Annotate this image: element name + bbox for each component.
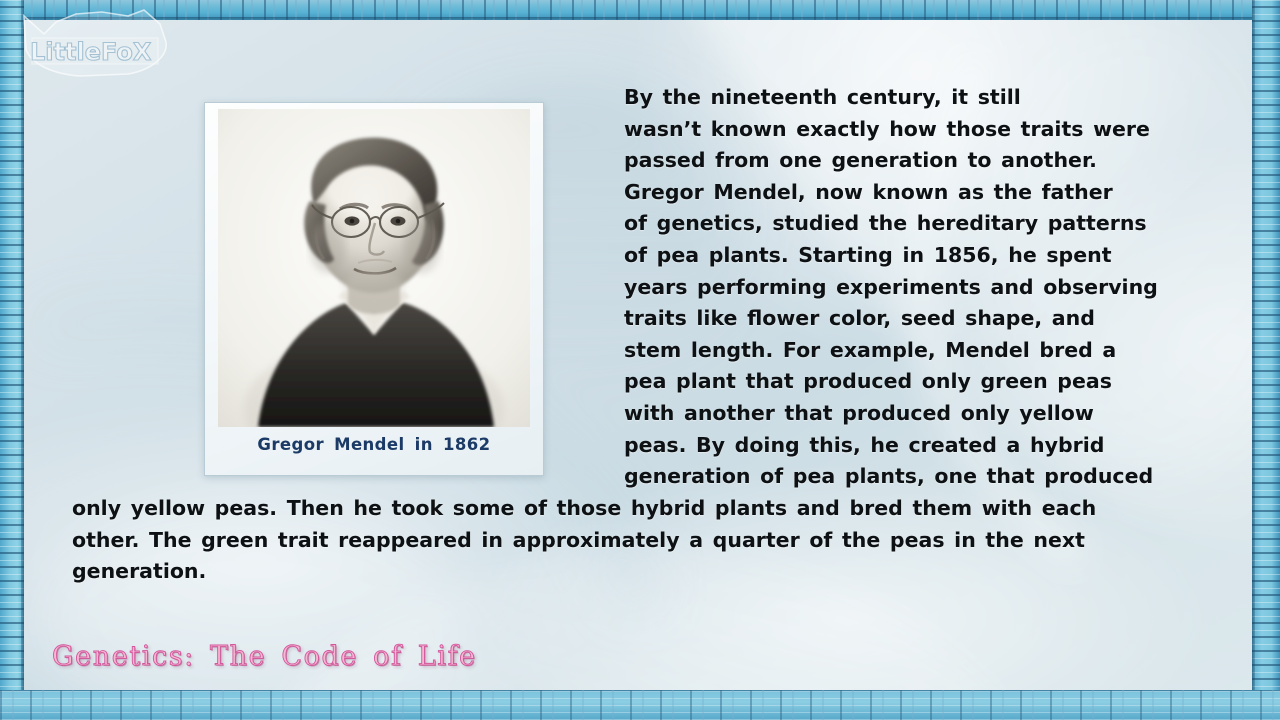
narration-line: other. The green trait reappeared in app… [72, 525, 1208, 557]
narration-line: wasnʼt known exactly how those traits we… [624, 114, 1208, 146]
figure-card: Gregor Mendel in 1862 [204, 102, 544, 476]
narration-line: generation. [72, 556, 1208, 588]
narration-line: By the nineteenth century, it still [624, 82, 1208, 114]
decorative-right-border [1252, 0, 1280, 694]
svg-text:LittleFoX: LittleFoX [30, 38, 152, 66]
decorative-left-border [0, 0, 24, 694]
narration-line: generation of pea plants, one that produ… [624, 461, 1208, 493]
narration-line: traits like flower color, seed shape, an… [624, 303, 1208, 335]
narration-line: years performing experiments and observi… [624, 272, 1208, 304]
narration-line: of genetics, studied the hereditary patt… [624, 208, 1208, 240]
narration-line: of pea plants. Starting in 1856, he spen… [624, 240, 1208, 272]
narration-column: By the nineteenth century, it still wasn… [624, 82, 1208, 493]
program-title: Genetics: The Code of Life [52, 641, 477, 672]
narration-line: only yellow peas. Then he took some of t… [72, 493, 1208, 525]
littlefox-logo: LittleFoX [10, 8, 180, 84]
decorative-top-border [0, 0, 1280, 20]
narration-line: with another that produced only yellow [624, 398, 1208, 430]
logo-wordmark: LittleFoX [30, 38, 152, 66]
narration-line: passed from one generation to another. [624, 145, 1208, 177]
narration-fullwidth: only yellow peas. Then he took some of t… [72, 493, 1208, 588]
decorative-bottom-border [0, 690, 1280, 720]
narration-line: peas. By doing this, he created a hybrid [624, 430, 1208, 462]
narration-line: stem length. For example, Mendel bred a [624, 335, 1208, 367]
narration-line: pea plant that produced only green peas [624, 366, 1208, 398]
figure-caption: Gregor Mendel in 1862 [257, 435, 490, 454]
narration-line: Gregor Mendel, now known as the father [624, 177, 1208, 209]
mendel-portrait-image [218, 109, 530, 427]
lesson-slide: LittleFoX [0, 0, 1280, 720]
